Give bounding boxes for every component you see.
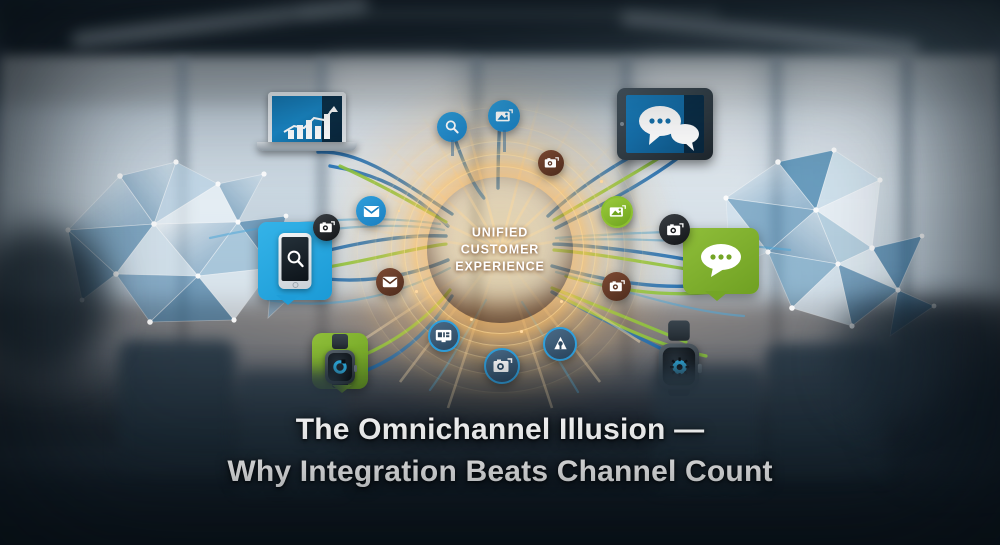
device-tablet[interactable] [617, 88, 713, 160]
pin-media-green[interactable] [601, 196, 633, 228]
title-line-2: Why Integration Beats Channel Count [0, 451, 1000, 493]
watch-band-top [668, 321, 690, 341]
laptop-base [257, 142, 357, 151]
page-title: The Omnichannel Illusion — Why Integrati… [0, 409, 1000, 493]
pin-email-brown[interactable] [376, 268, 404, 296]
envelope-icon [363, 205, 380, 218]
spark [398, 210, 400, 212]
pin-email-blue[interactable] [356, 196, 386, 226]
camera-icon [544, 157, 559, 169]
laptop-screen [268, 92, 346, 142]
core-label-line3: EXPERIENCE [455, 259, 545, 276]
foreground-blur [830, 300, 950, 420]
pin-camera-brown[interactable] [538, 150, 564, 176]
spark [415, 290, 418, 293]
pin-search[interactable] [437, 112, 467, 142]
media-icon [495, 109, 513, 124]
smartphone [279, 233, 312, 289]
chat-bubble-icon [696, 242, 746, 278]
pin-camera-black[interactable] [659, 214, 690, 245]
title-line-1: The Omnichannel Illusion — [296, 413, 705, 446]
spark [590, 250, 592, 252]
spark [560, 300, 563, 303]
camera-icon [319, 221, 335, 234]
chat-bubbles-icon [630, 97, 704, 153]
pin-camera-brown2[interactable] [602, 272, 631, 301]
search-icon [285, 249, 305, 269]
media-icon [609, 205, 626, 219]
spark [600, 180, 603, 183]
pin-display[interactable] [428, 320, 460, 352]
tablet-screen [626, 95, 704, 153]
device-laptop[interactable] [268, 92, 357, 151]
tablet-frame [617, 88, 713, 160]
hero-graphic: UNIFIED CUSTOMER EXPERIENCE [0, 0, 1000, 545]
pin-media-top[interactable] [488, 100, 520, 132]
camera-dot-icon [620, 122, 624, 126]
pin-stem [451, 140, 454, 156]
pin-stem [503, 130, 506, 152]
device-messaging-bubble[interactable] [683, 228, 759, 294]
camera-icon [666, 223, 684, 237]
phone-screen [282, 237, 309, 281]
core-label-line2: CUSTOMER [455, 242, 545, 259]
pin-camera-phone[interactable] [313, 214, 340, 241]
spark [520, 330, 523, 333]
watch-band-top [332, 334, 348, 349]
search-icon [444, 119, 460, 135]
camera-icon [609, 280, 625, 293]
green-speech-bubble [683, 228, 759, 294]
phone-body [279, 233, 312, 289]
core-label-line1: UNIFIED [455, 225, 545, 242]
bar-chart-icon [272, 96, 346, 142]
spark [470, 318, 473, 321]
core-label: UNIFIED CUSTOMER EXPERIENCE [455, 225, 545, 276]
display-icon [435, 329, 453, 343]
envelope-icon [382, 276, 398, 288]
home-button [292, 282, 298, 288]
